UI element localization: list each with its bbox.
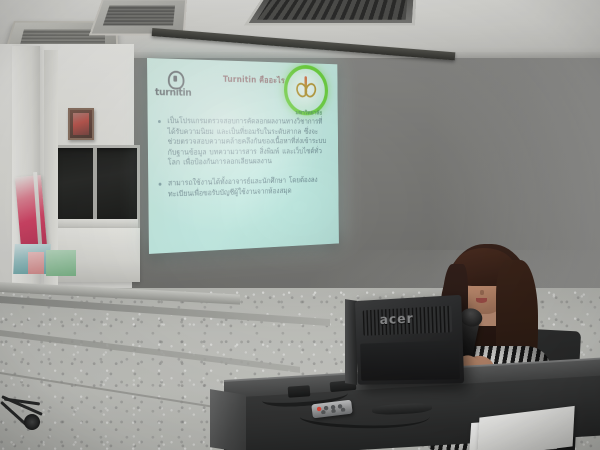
acer-lcd-monitor[interactable]: acer [355,295,464,385]
slide-bullet: สามารถใช้งานได้ทั้งอาจารย์และนักศึกษา โด… [158,175,328,200]
cable-connector [288,385,311,398]
monitor-rear-panel [360,340,460,381]
storage-box-pink [28,252,44,274]
slide-bullet: เป็นโปรแกรมตรวจสอบการคัดลอกผลงานทางวิชาก… [157,116,327,169]
projection-screen-wrapper: turnitin Turnitin คืออะไร มหาวิทยาลัย เป… [147,58,339,254]
slide-bullet-list: เป็นโปรแกรมตรวจสอบการคัดลอกผลงานทางวิชาก… [157,116,327,210]
remote-buttons[interactable] [316,403,349,415]
turnitin-logo: turnitin [155,72,205,103]
seal-caption: มหาวิทยาลัย [286,108,332,118]
acer-brand-logo: acer [379,311,434,332]
projection-screen: turnitin Turnitin คืออะไร มหาวิทยาลัย เป… [147,58,339,254]
framed-wall-picture [68,108,94,140]
turnitin-logo-text: turnitin [155,87,192,99]
desk-side-panel [210,389,246,450]
lecture-room-photo: turnitin Turnitin คืออะไร มหาวิทยาลัย เป… [0,0,600,450]
dark-window [50,145,140,228]
ceiling-vent-right-icon [244,0,417,25]
storage-box-green [46,250,76,276]
tripod-stand [0,400,64,450]
